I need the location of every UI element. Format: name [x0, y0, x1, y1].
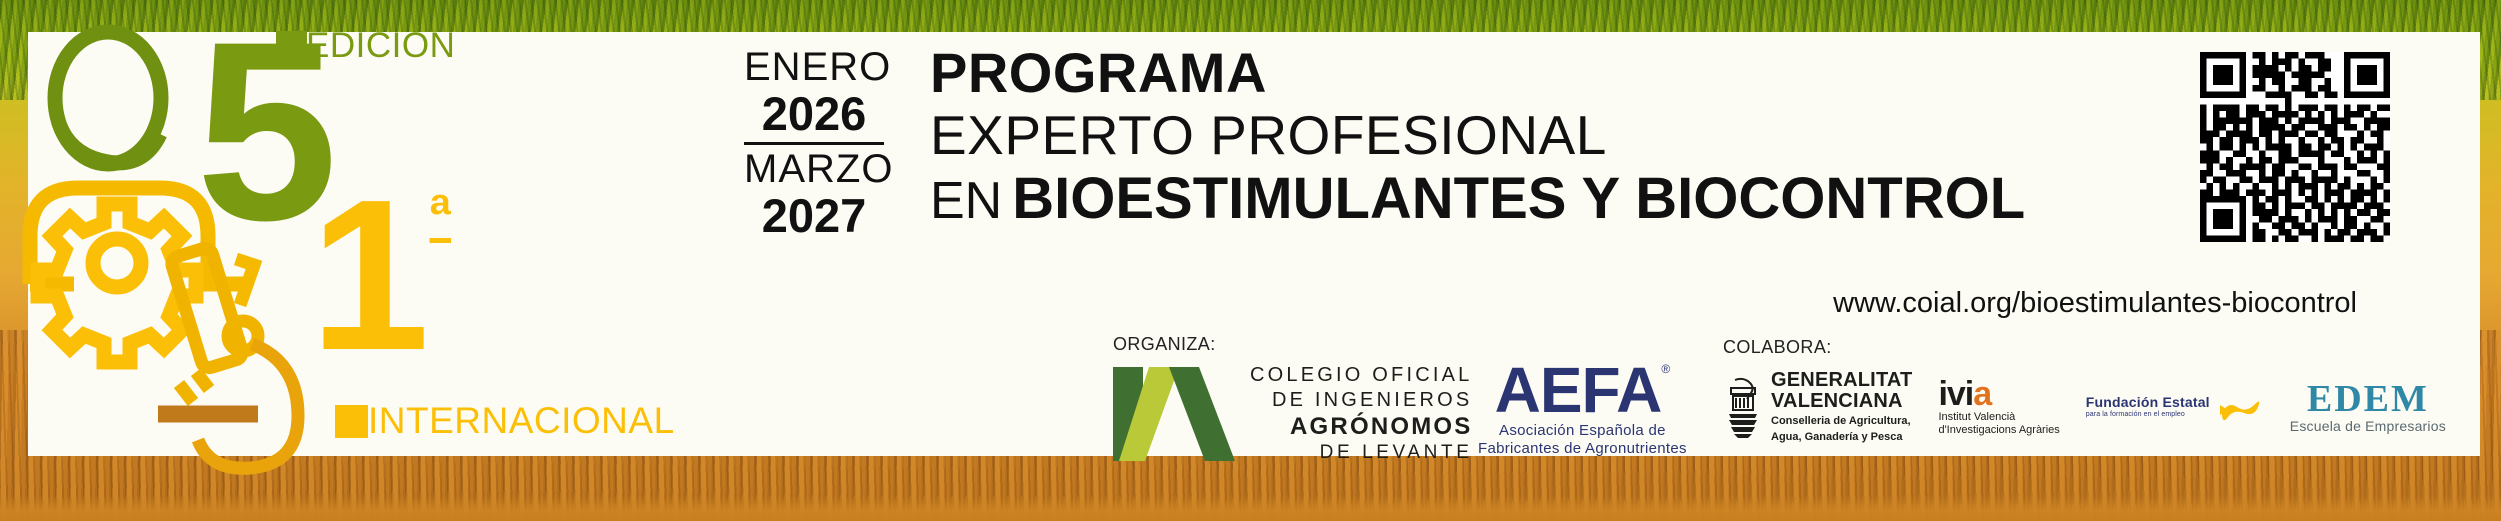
edition-label-row: EDICIÓN: [276, 26, 455, 66]
generalitat-line1: GENERALITAT: [1771, 370, 1912, 391]
coial-line2: DE INGENIEROS: [1250, 388, 1472, 413]
ivia-sub1: Institut Valencià: [1938, 411, 2059, 424]
website-url[interactable]: www.coial.org/bioestimulantes-biocontrol: [1833, 287, 2357, 320]
coial-line4: DE LEVANTE: [1250, 441, 1472, 465]
ivia-logo[interactable]: ivia Institut Valencià d'Investigacions …: [1938, 377, 2059, 437]
title-subject: BIOESTIMULANTES Y BIOCONTROL: [1012, 166, 2025, 232]
coial-line3: AGRÓNOMOS: [1250, 413, 1472, 441]
edem-logo[interactable]: EDEM Escuela de Empresarios: [2290, 380, 2446, 434]
international-label-row: INTERNACIONAL: [335, 400, 675, 442]
end-year: 2027: [744, 191, 884, 241]
title-programa: PROGRAMA: [930, 42, 2025, 104]
fundacion-estatal-logo[interactable]: Fundación Estatal para la formación en e…: [2086, 393, 2264, 421]
colabora-label: COLABORA:: [1723, 337, 2446, 358]
ivia-word-part1: ivi: [1938, 375, 1973, 413]
background-soil-blur: [0, 495, 2501, 521]
ivia-wordmark: ivia: [1938, 377, 2059, 411]
program-title-block: PROGRAMA EXPERTO PROFESIONAL EN BIOESTIM…: [930, 42, 2025, 232]
colabora-block: COLABORA: GENERALITAT VALENCIA: [1723, 337, 2446, 444]
title-en-prefix: EN: [930, 171, 1002, 231]
aefa-sub1: Asociación Española de: [1478, 422, 1687, 440]
end-month: MARZO: [744, 147, 884, 191]
generalitat-crest-icon: [1723, 376, 1763, 438]
generalitat-valenciana-logo[interactable]: GENERALITAT VALENCIANA Conselleria de Ag…: [1723, 370, 1912, 444]
fundacion-line1: Fundación Estatal: [2086, 395, 2210, 410]
international-label: INTERNACIONAL: [368, 400, 675, 442]
aefa-sub2: Fabricantes de Agronutrientes: [1478, 440, 1687, 458]
ivia-sub2: d'Investigacions Agràries: [1938, 424, 2059, 437]
aefa-registered-mark: ®: [1661, 362, 1670, 376]
coial-wordmark: COLEGIO OFICIAL DE INGENIEROS AGRÓNOMOS …: [1250, 363, 1472, 465]
organiza-block: ORGANIZA: COLEGIO OFICIAL DE INGENIEROS …: [1113, 334, 1472, 465]
edem-wordmark: EDEM: [2290, 380, 2446, 418]
coial-line1: COLEGIO OFICIAL: [1250, 363, 1472, 388]
colabora-logos-row: GENERALITAT VALENCIANA Conselleria de Ag…: [1723, 370, 2446, 444]
fundacion-line2: para la formación en el empleo: [2086, 410, 2210, 419]
date-range-block: ENERO 2026 MARZO 2027: [744, 45, 884, 241]
coial-mark-icon: [1113, 367, 1235, 461]
green-square-marker: [276, 31, 307, 62]
generalitat-wordmark: GENERALITAT VALENCIANA Conselleria de Ag…: [1771, 370, 1912, 444]
start-month: ENERO: [744, 45, 884, 89]
international-ordinal: ª: [430, 187, 451, 245]
edem-tagline: Escuela de Empresarios: [2290, 418, 2446, 434]
edition-label: EDICIÓN: [306, 26, 455, 66]
qr-code[interactable]: [2200, 52, 2390, 242]
generalitat-sub1: Conselleria de Agricultura,: [1771, 415, 1912, 428]
aefa-logo[interactable]: AEFA ® Asociación Española de Fabricante…: [1478, 358, 1687, 458]
fundacion-infinity-icon: [2218, 393, 2264, 421]
organiza-label: ORGANIZA:: [1113, 334, 1472, 355]
international-number: 1: [310, 175, 430, 375]
fundacion-wordmark: Fundación Estatal para la formación en e…: [2086, 395, 2210, 419]
aefa-wordmark: AEFA ®: [1478, 358, 1687, 422]
ivia-word-part2: a: [1973, 375, 1991, 413]
international-number-block: 1 ª: [310, 175, 451, 375]
date-divider: [744, 142, 884, 145]
generalitat-sub2: Agua, Ganadería y Pesca: [1771, 431, 1912, 444]
start-year: 2026: [744, 89, 884, 139]
generalitat-line2: VALENCIANA: [1771, 391, 1912, 412]
yellow-square-marker: [335, 405, 368, 438]
title-experto-profesional: EXPERTO PROFESIONAL: [930, 104, 2025, 166]
coial-logo[interactable]: COLEGIO OFICIAL DE INGENIEROS AGRÓNOMOS …: [1113, 363, 1472, 465]
title-subject-row: EN BIOESTIMULANTES Y BIOCONTROL: [930, 166, 2025, 232]
aefa-letters: AEFA: [1495, 358, 1662, 422]
